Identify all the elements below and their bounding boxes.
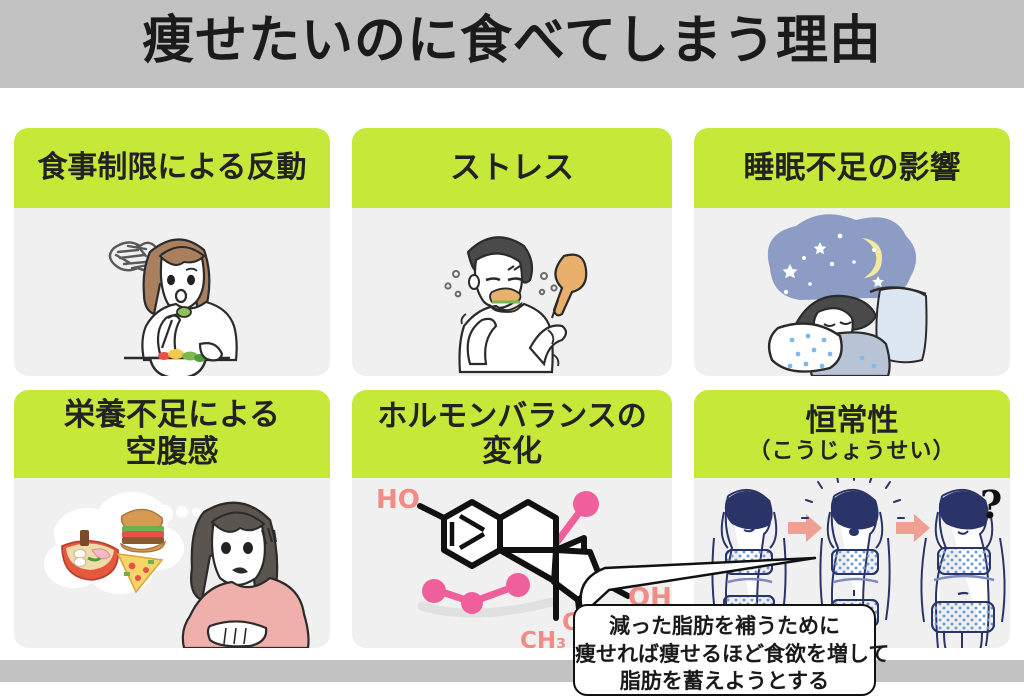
card-illustration-area bbox=[352, 208, 672, 376]
svg-text:?: ? bbox=[980, 482, 1002, 527]
card-header: 栄養不足による 空腹感 bbox=[14, 390, 330, 478]
bubble-line-1: 減った脂肪を補うために bbox=[575, 613, 874, 641]
woman-eating-salad-illustration bbox=[14, 208, 330, 376]
card-header: 睡眠不足の影響 bbox=[694, 128, 1010, 208]
bubble-line-2: 痩せれば痩せるほど食欲を増して bbox=[575, 641, 874, 669]
speech-bubble: 減った脂肪を補うために 痩せれば痩せるほど食欲を増して 脂肪を蓄えようとする bbox=[573, 604, 876, 696]
card-header: ストレス bbox=[352, 128, 672, 208]
bubble-line-3: 脂肪を蓄えようとする bbox=[575, 668, 874, 696]
card-header: 食事制限による反動 bbox=[14, 128, 330, 208]
title-bar: 痩せたいのに食べてしまう理由 bbox=[0, 0, 1024, 88]
page-title: 痩せたいのに食べてしまう理由 bbox=[142, 15, 882, 73]
food-craving-illustration bbox=[14, 478, 330, 648]
sleeping-woman-night-sky-illustration bbox=[694, 208, 1010, 376]
card-header: 恒常性 （こうじょうせい） bbox=[694, 390, 1010, 478]
card-diet-rebound[interactable]: 食事制限による反動 bbox=[14, 128, 330, 376]
card-title-line: ストレス bbox=[450, 150, 574, 187]
card-stress[interactable]: ストレス bbox=[352, 128, 672, 376]
svg-text:CH₃: CH₃ bbox=[520, 628, 566, 648]
card-title-line-1: ホルモンバランスの bbox=[377, 399, 646, 434]
card-nutrient-deficiency-hunger[interactable]: 栄養不足による 空腹感 bbox=[14, 390, 330, 648]
card-sleep-deprivation[interactable]: 睡眠不足の影響 bbox=[694, 128, 1010, 376]
card-title-line-2: 変化 bbox=[482, 434, 542, 469]
card-title-line: 食事制限による反動 bbox=[37, 150, 306, 185]
card-title-line-2: 空腹感 bbox=[126, 434, 219, 471]
card-title-line-1: 栄養不足による bbox=[64, 397, 280, 434]
card-title-line: 恒常性 bbox=[806, 403, 899, 440]
card-title-line: 睡眠不足の影響 bbox=[744, 150, 961, 187]
card-illustration-area bbox=[694, 208, 1010, 376]
card-header: ホルモンバランスの 変化 bbox=[352, 390, 672, 478]
reason-card-grid: 食事制限による反動 bbox=[0, 118, 1024, 660]
card-illustration-area bbox=[14, 478, 330, 648]
stress-eating-illustration bbox=[352, 208, 672, 376]
card-subtitle-reading: （こうじょうせい） bbox=[748, 439, 955, 465]
svg-text:HO: HO bbox=[376, 485, 420, 515]
card-illustration-area bbox=[14, 208, 330, 376]
